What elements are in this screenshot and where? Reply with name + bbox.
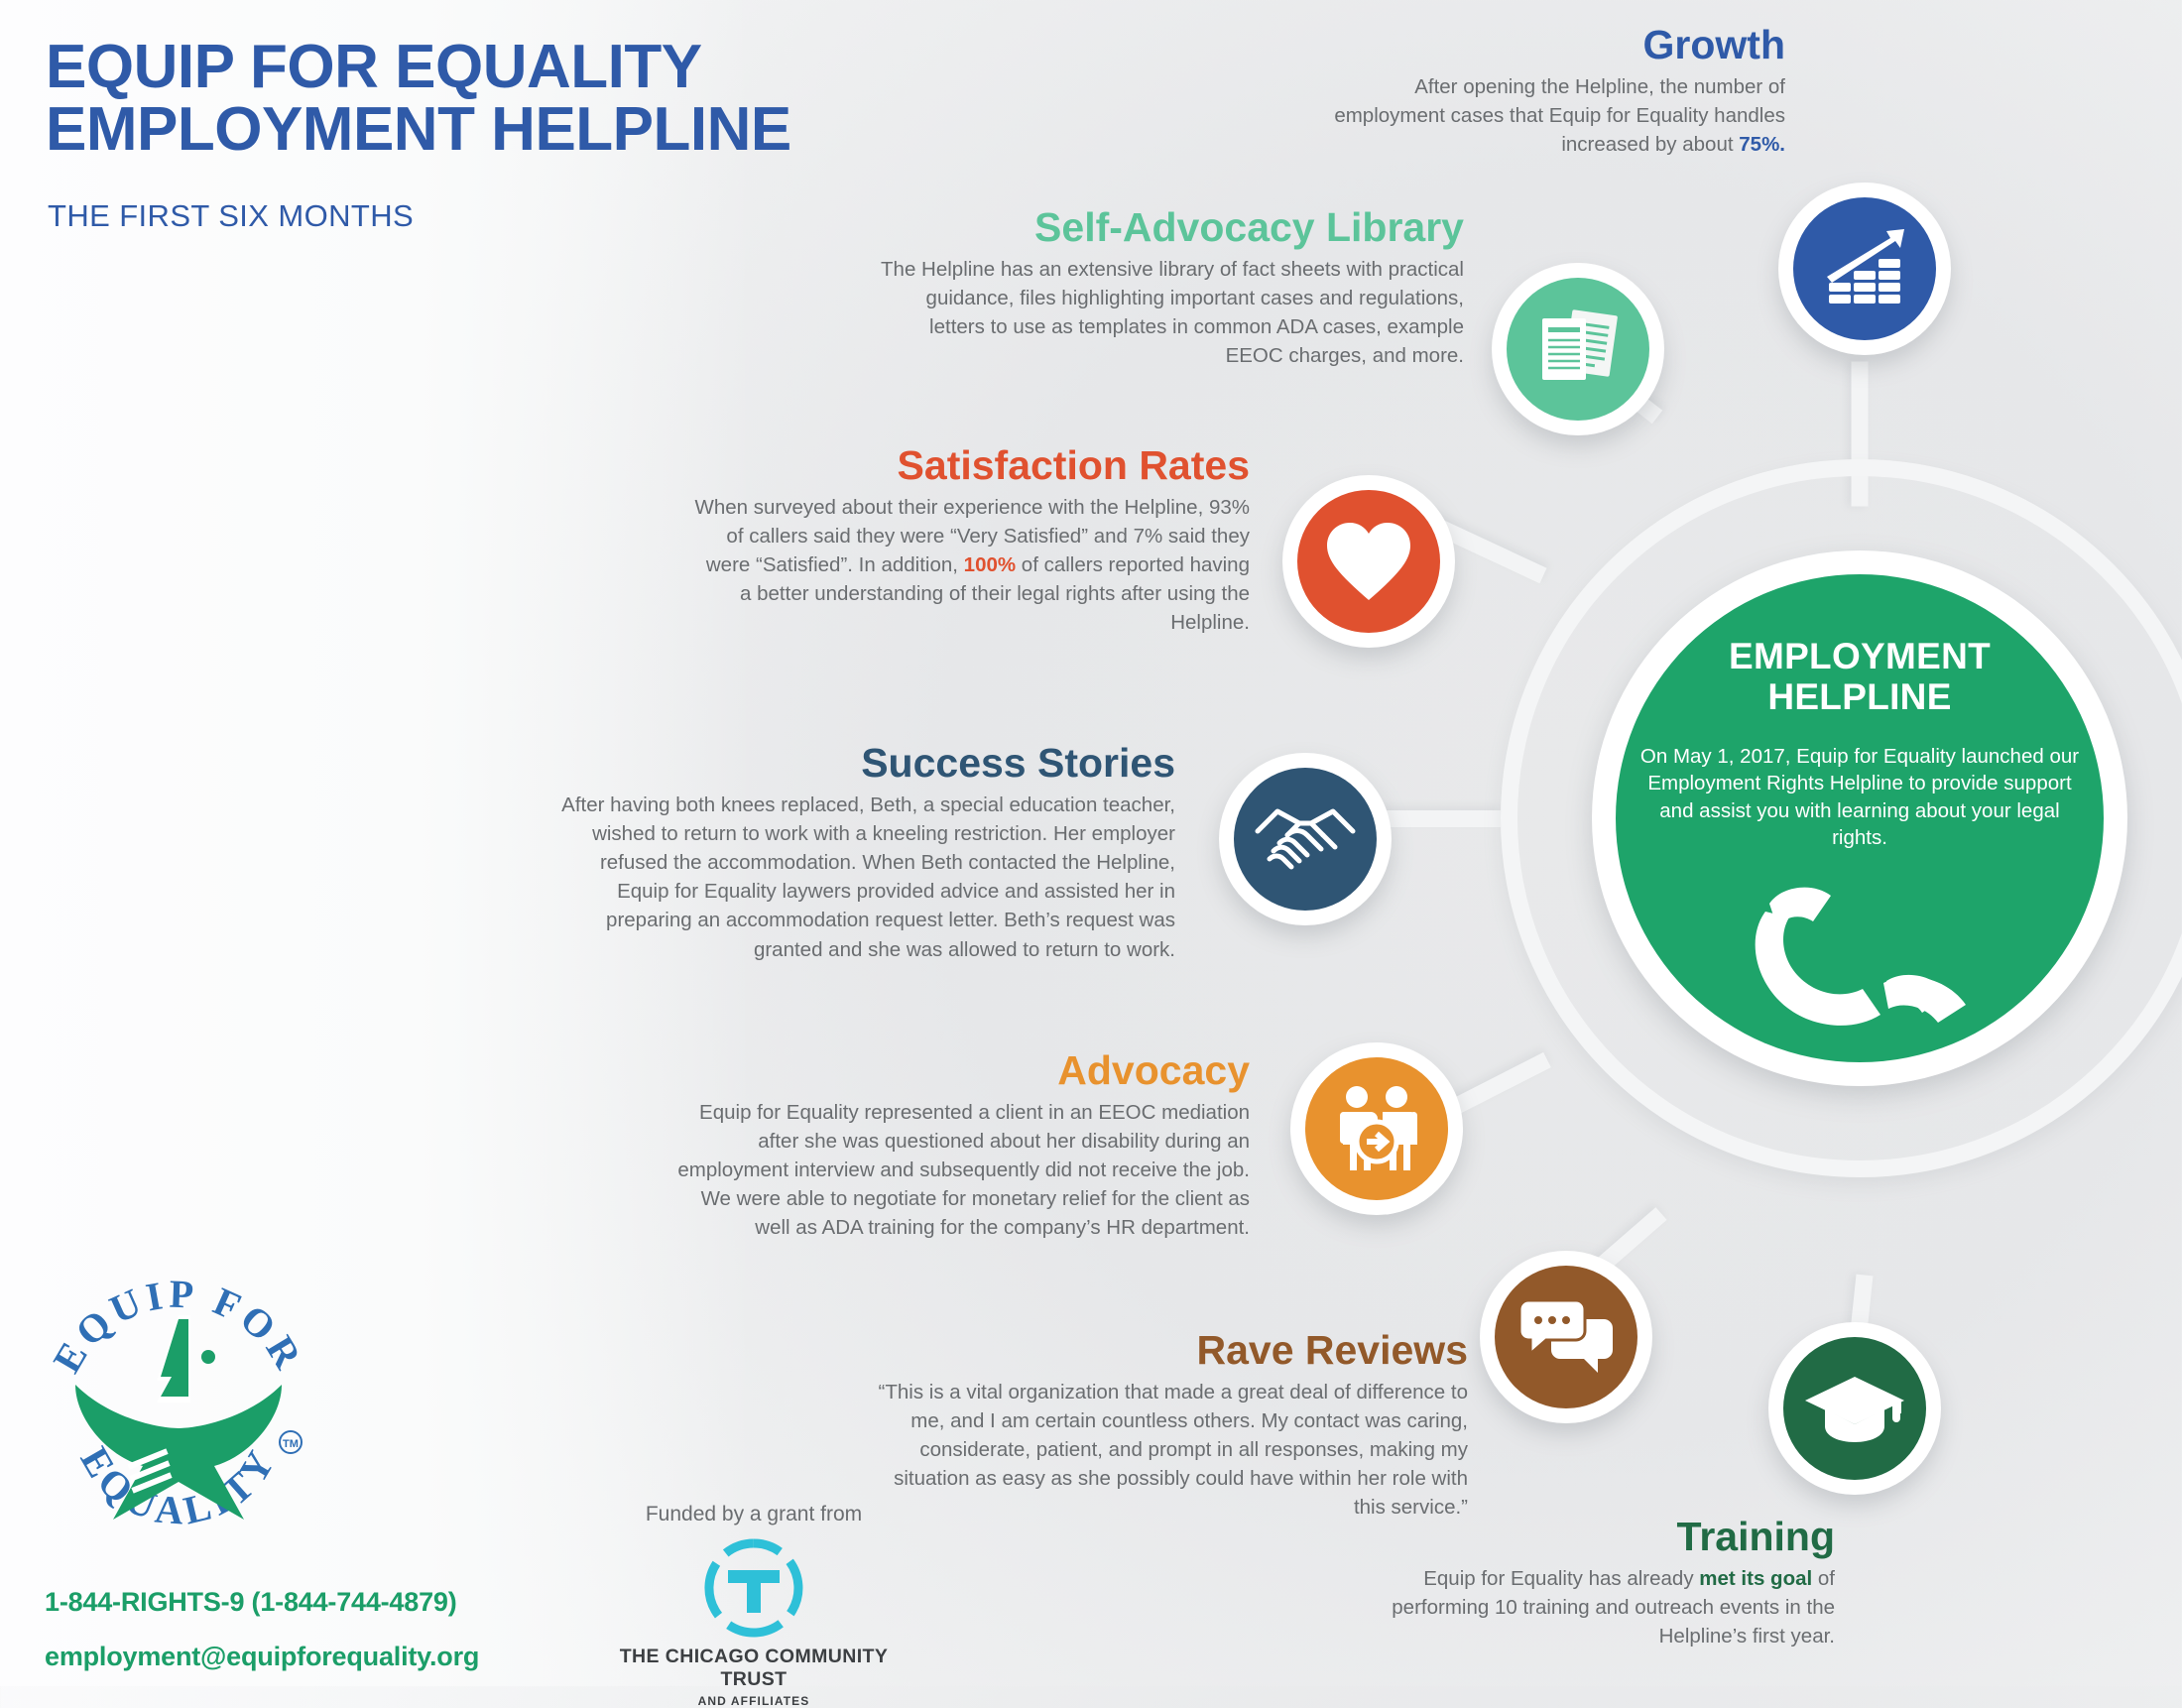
node-training[interactable] [1768,1322,1941,1495]
node-growth[interactable] [1778,183,1951,355]
hub-body: On May 1, 2017, Equip for Equality launc… [1639,743,2080,852]
section-advocacy: Advocacy Equip for Equality represented … [674,1049,1250,1243]
node-rave-reviews[interactable] [1480,1251,1652,1423]
section-heading-success-stories: Success Stories [555,742,1175,785]
contact-email[interactable]: employment@equipforequality.org [45,1642,479,1672]
tct-t-icon [702,1536,805,1640]
section-heading-satisfaction-rates: Satisfaction Rates [694,444,1250,487]
node-self-advocacy-library[interactable] [1492,263,1664,435]
page-title: EQUIP FOR EQUALITY EMPLOYMENT HELPLINE [46,36,1037,161]
funder-name: THE CHICAGO COMMUNITY TRUST [595,1646,912,1691]
infographic-canvas: EQUIP FOR EQUALITY EMPLOYMENT HELPLINE T… [0,0,2182,1686]
satisfaction-highlight: 100% [964,553,1016,576]
speech-bubbles-icon [1495,1266,1637,1408]
graduation-cap-icon [1783,1337,1926,1480]
equip-for-equality-logo: EQUIP FOR EQUALITY TM [40,1270,317,1547]
section-heading-self-advocacy-library: Self-Advocacy Library [873,206,1464,249]
training-highlight: met its goal [1699,1567,1812,1590]
section-growth: Growth After opening the Helpline, the n… [1309,24,1785,159]
funder-label: Funded by a grant from [595,1503,912,1526]
section-body-growth: After opening the Helpline, the number o… [1309,72,1785,159]
node-success-stories[interactable] [1219,753,1392,925]
section-heading-advocacy: Advocacy [674,1049,1250,1092]
section-satisfaction-rates: Satisfaction Rates When surveyed about t… [694,444,1250,638]
section-body-self-advocacy-library: The Helpline has an extensive library of… [873,255,1464,370]
hub-title-line-1: EMPLOYMENT [1729,636,1991,676]
hub-title-line-2: HELPLINE [1767,676,1951,717]
page-subtitle: THE FIRST SIX MONTHS [48,198,414,234]
hub-title: EMPLOYMENT HELPLINE [1616,636,2104,718]
funder-block: Funded by a grant from THE CHICAGO COMMU… [595,1503,912,1708]
hub-disc: EMPLOYMENT HELPLINE On May 1, 2017, Equi… [1616,574,2104,1062]
growth-body-before: After opening the Helpline, the number o… [1334,75,1785,156]
documents-icon [1507,278,1649,421]
section-body-advocacy: Equip for Equality represented a client … [674,1098,1250,1243]
section-body-success-stories: After having both knees replaced, Beth, … [555,791,1175,964]
svg-text:TM: TM [283,1438,299,1450]
section-training: Training Equip for Equality has already … [1369,1516,1835,1650]
hub-employment-helpline: EMPLOYMENT HELPLINE On May 1, 2017, Equi… [1592,550,2127,1086]
section-heading-rave-reviews: Rave Reviews [873,1329,1468,1372]
contact-phone[interactable]: 1-844-RIGHTS-9 (1-844-744-4879) [45,1587,457,1618]
node-advocacy[interactable] [1290,1042,1463,1215]
section-self-advocacy-library: Self-Advocacy Library The Helpline has a… [873,206,1464,370]
title-line-2: EMPLOYMENT HELPLINE [46,98,1037,161]
section-heading-training: Training [1369,1516,1835,1558]
section-success-stories: Success Stories After having both knees … [555,742,1175,964]
bar-chart-growth-icon [1793,197,1936,340]
section-body-satisfaction-rates: When surveyed about their experience wit… [694,493,1250,638]
two-people-access-icon [1305,1057,1448,1200]
funder-sub: AND AFFILIATES [595,1694,912,1708]
section-heading-growth: Growth [1309,24,1785,66]
section-body-rave-reviews: “This is a vital organization that made … [873,1378,1468,1523]
growth-highlight: 75%. [1739,133,1785,156]
title-line-1: EQUIP FOR EQUALITY [46,33,702,101]
heart-icon [1297,490,1440,633]
phone-icon [1736,872,1984,1045]
section-body-training: Equip for Equality has already met its g… [1369,1564,1835,1650]
section-rave-reviews: Rave Reviews “This is a vital organizati… [873,1329,1468,1523]
handshake-icon [1234,768,1377,911]
training-body-before: Equip for Equality has already [1423,1567,1699,1590]
node-satisfaction-rates[interactable] [1282,475,1455,648]
